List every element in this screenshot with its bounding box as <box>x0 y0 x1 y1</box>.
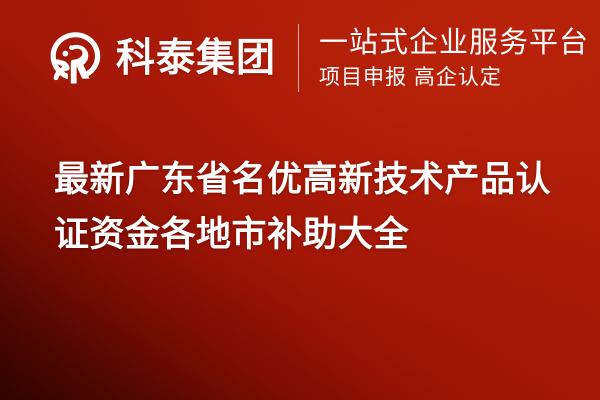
vertical-divider <box>298 24 299 92</box>
tagline-block: 一站式企业服务平台 项目申报 高企认定 <box>319 23 589 93</box>
headline-line-2: 证资金各地市补助大全 <box>54 207 554 262</box>
promo-banner: 科泰集团 一站式企业服务平台 项目申报 高企认定 最新广东省名优高新技术产品认 … <box>0 0 600 400</box>
brand-name: 科泰集团 <box>116 39 276 78</box>
tagline-primary: 一站式企业服务平台 <box>319 27 589 59</box>
headline-line-1: 最新广东省名优高新技术产品认 <box>54 152 554 207</box>
headline: 最新广东省名优高新技术产品认 证资金各地市补助大全 <box>54 152 554 262</box>
banner-header: 科泰集团 一站式企业服务平台 项目申报 高企认定 <box>48 20 589 96</box>
tagline-secondary: 项目申报 高企认定 <box>319 66 589 89</box>
ketai-group-logo-icon <box>48 31 102 85</box>
